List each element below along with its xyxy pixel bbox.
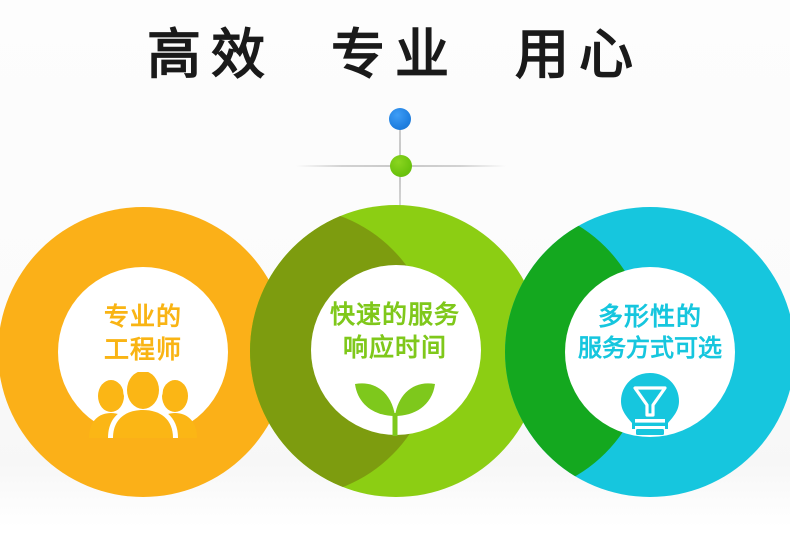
venn-rings [0,0,790,557]
people-group-icon [28,372,258,444]
card-engineers-line-2: 工程师 [28,333,258,366]
lightbulb-icon [535,371,765,443]
card-service-line-1: 多形性的 [535,300,765,333]
card-engineers-line-1: 专业的 [28,300,258,333]
card-response-time[interactable]: 快速的服务 响应时间 [280,298,510,442]
card-service-options[interactable]: 多形性的 服务方式可选 [535,300,765,443]
card-response-line-2: 响应时间 [280,331,510,364]
card-service-line-2: 服务方式可选 [535,333,765,365]
infographic-poster: 高效专业用心 专业的 工程师 [0,0,790,557]
sprout-icon [280,370,510,442]
card-engineers[interactable]: 专业的 工程师 [28,300,258,444]
card-response-line-1: 快速的服务 [280,298,510,331]
